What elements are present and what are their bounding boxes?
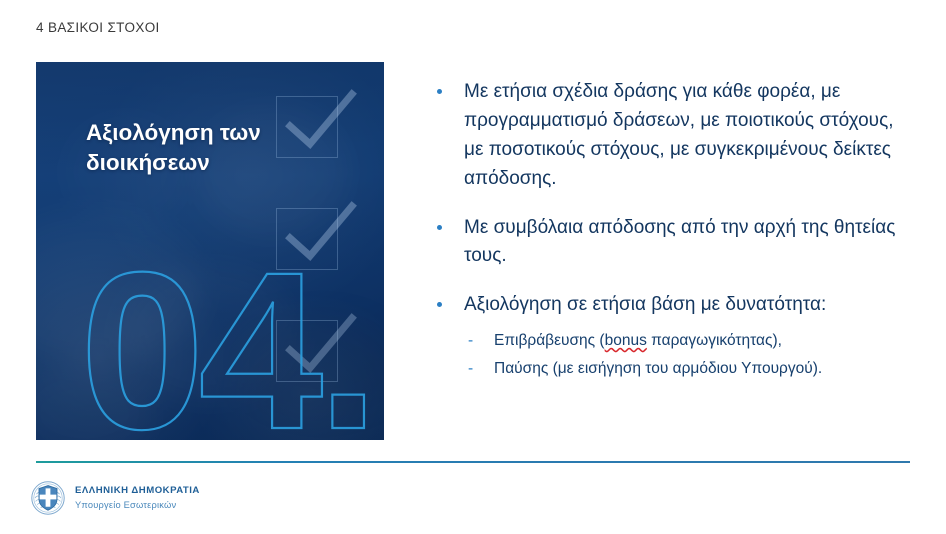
bullet-item: Αξιολόγηση σε ετήσια βάση με δυνατότητα:… [430,291,910,380]
greek-republic-emblem-icon [30,480,66,516]
bullet-text: Με ετήσια σχέδια δράσης για κάθε φορέα, … [464,78,910,194]
bullet-item: Με συμβόλαια απόδοσης από την αρχή της θ… [430,214,910,272]
bullet-dot-icon [437,225,442,230]
bullet-text: Με συμβόλαια απόδοσης από την αρχή της θ… [464,214,910,272]
footer-text: ΕΛΛΗΝΙΚΗ ΔΗΜΟΚΡΑΤΙΑ Υπουργείο Εσωτερικών [75,485,200,511]
sub-bullet-prefix: Επιβράβευσης ( [494,332,605,349]
sub-bullet-suffix: παραγωγικότητας), [647,332,782,349]
sub-bullet-list: - Επιβράβευσης (bonus παραγωγικότητας), … [464,329,910,381]
footer-organization: ΕΛΛΗΝΙΚΗ ΔΗΜΟΚΡΑΤΙΑ [75,485,200,497]
dash-marker-icon: - [468,357,473,380]
bullet-text: Αξιολόγηση σε ετήσια βάση με δυνατότητα: [464,291,910,320]
card-title: Αξιολόγηση των διοικήσεων [86,118,336,178]
bullet-content: Με ετήσια σχέδια δράσης για κάθε φορέα, … [430,78,910,381]
bullet-dot-icon [437,302,442,307]
presentation-slide: 4 ΒΑΣΙΚΟΙ ΣΤΟΧΟΙ [0,0,946,534]
section-image-card: 04. Αξιολόγηση των διοικήσεων [36,62,384,440]
sub-bullet-item: - Επιβράβευσης (bonus παραγωγικότητας), [466,329,910,352]
bullet-item: Με ετήσια σχέδια δράσης για κάθε φορέα, … [430,78,910,194]
sub-bullet-prefix: Παύσης (με εισήγηση του αρμόδιου Υπουργο… [494,360,822,377]
slide-heading: 4 ΒΑΣΙΚΟΙ ΣΤΟΧΟΙ [36,20,160,35]
bullet-dot-icon [437,89,442,94]
dash-marker-icon: - [468,329,473,352]
footer-branding: ΕΛΛΗΝΙΚΗ ΔΗΜΟΚΡΑΤΙΑ Υπουργείο Εσωτερικών [30,480,200,516]
footer-divider [36,461,910,463]
sub-bullet-item: - Παύσης (με εισήγηση του αρμόδιου Υπουρ… [466,357,910,380]
footer-ministry: Υπουργείο Εσωτερικών [75,499,200,511]
misspelled-word: bonus [605,332,647,349]
section-number: 04. [80,248,373,440]
